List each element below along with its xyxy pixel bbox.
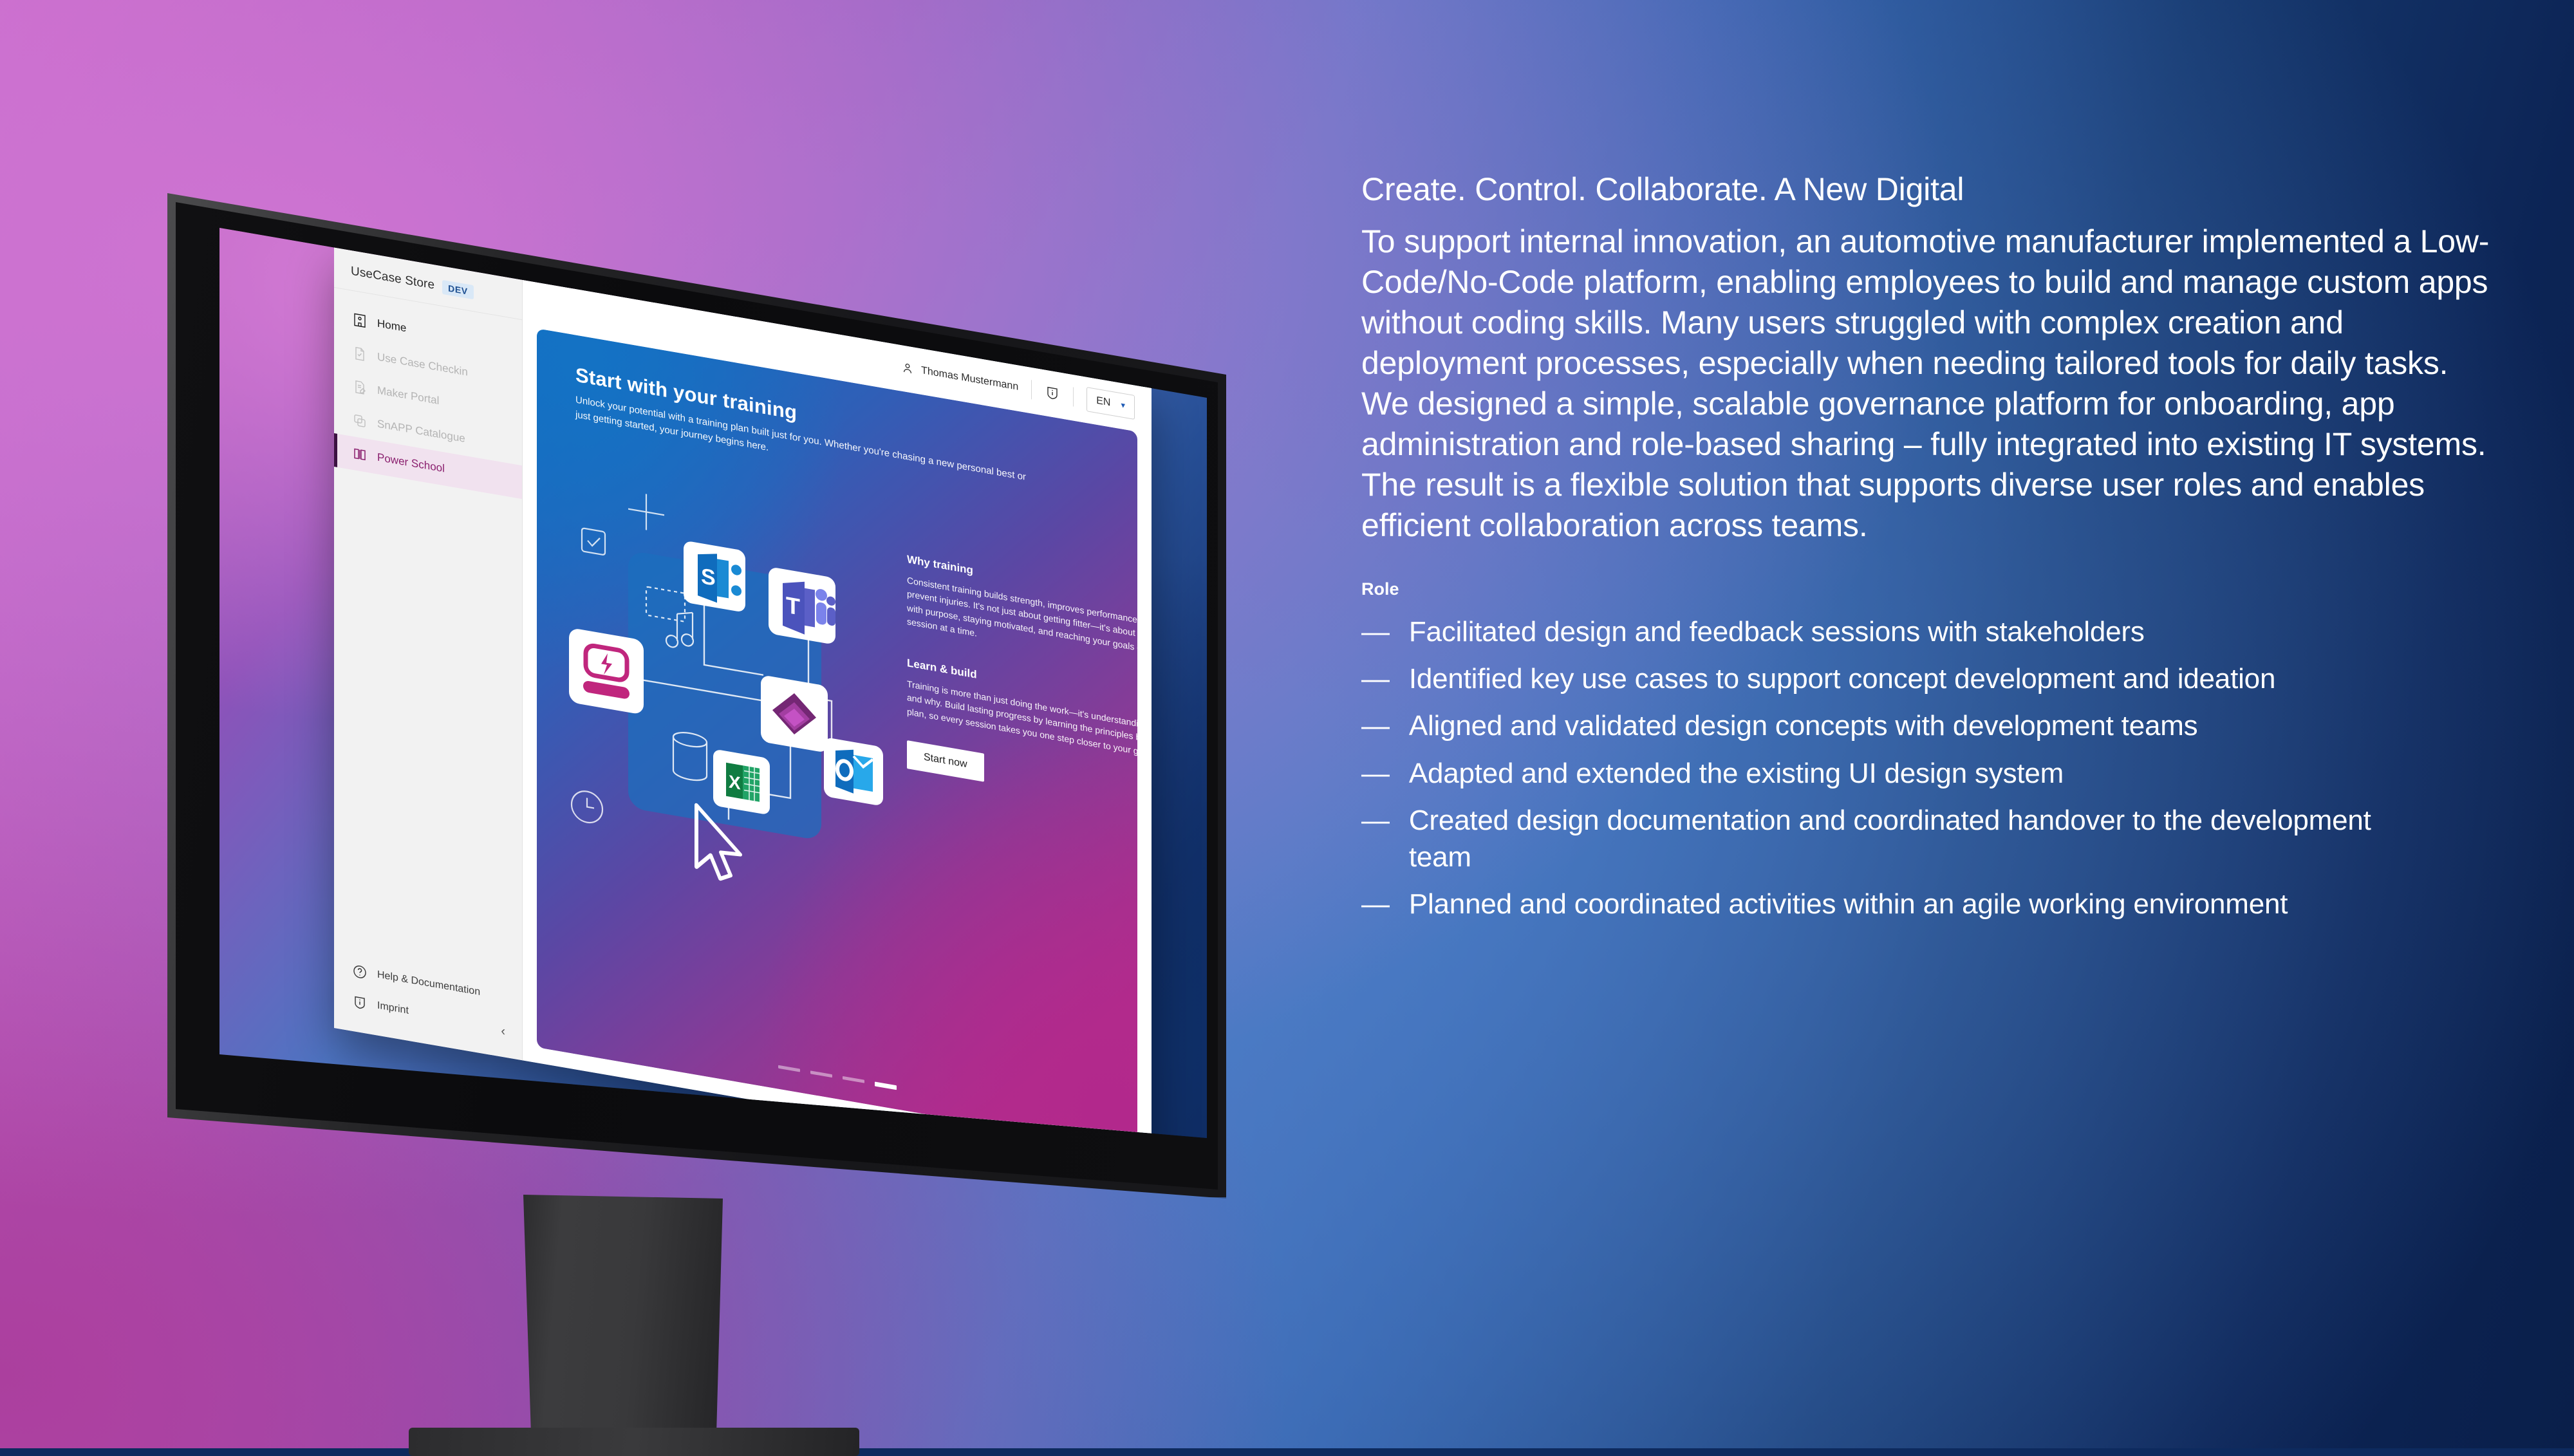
dash-bullet: —	[1361, 755, 1390, 792]
svg-text:X: X	[729, 771, 741, 794]
language-value: EN	[1096, 395, 1110, 409]
sidebar-item-label: Imprint	[377, 1000, 409, 1017]
apps-stack-icon	[352, 412, 368, 430]
role-list-item: — Identified key use cases to support co…	[1361, 660, 2494, 697]
carousel-indicators	[778, 1065, 897, 1090]
description-paragraph: To support internal innovation, an autom…	[1361, 221, 2494, 546]
carousel-dot[interactable]	[810, 1070, 832, 1078]
dash-bullet: —	[1361, 886, 1390, 922]
person-icon	[901, 361, 914, 376]
clock-icon	[572, 789, 602, 825]
sharepoint-icon: S	[684, 540, 745, 613]
monitor-screen: UseCase Store DEV Home	[164, 193, 1239, 1197]
role-item-text: Aligned and validated design concepts wi…	[1409, 707, 2198, 744]
environment-badge: DEV	[442, 280, 474, 299]
home-icon	[352, 312, 368, 330]
start-now-button[interactable]: Start now	[907, 740, 984, 782]
monitor-stand-base	[409, 1428, 859, 1456]
info-shield-icon	[352, 994, 368, 1012]
svg-text:T: T	[786, 592, 800, 620]
brand-name: UseCase Store	[351, 264, 434, 292]
plus-icon	[628, 491, 664, 534]
sidebar-item-label: Use Case Checkin	[377, 351, 468, 379]
hero-card: Start with your training Unlock your pot…	[537, 328, 1137, 1150]
sidebar-item-label: SnAPP Catalogue	[377, 418, 465, 446]
carousel-dot[interactable]	[843, 1076, 864, 1083]
language-select[interactable]: EN ▾	[1086, 387, 1135, 420]
divider	[1073, 387, 1074, 406]
case-study-copy: Create. Control. Collaborate. A New Digi…	[1361, 171, 2494, 933]
hero-illustration: S T	[564, 462, 899, 918]
app-window: UseCase Store DEV Home	[334, 246, 1152, 1168]
headline: Create. Control. Collaborate. A New Digi…	[1361, 171, 2494, 209]
dash-bullet: —	[1361, 802, 1390, 875]
sidebar-item-label: Maker Portal	[377, 384, 439, 408]
outlook-icon	[824, 737, 883, 807]
role-heading: Role	[1361, 579, 2494, 599]
chevron-down-icon: ▾	[1121, 400, 1125, 411]
sidebar-nav: Home Use Case Checkin Ma	[334, 288, 522, 499]
role-item-text: Identified key use cases to support conc…	[1409, 660, 2275, 697]
role-item-text: Facilitated design and feedback sessions…	[1409, 613, 2145, 650]
role-item-text: Adapted and extended the existing UI des…	[1409, 755, 2064, 792]
role-list-item: — Adapted and extended the existing UI d…	[1361, 755, 2494, 792]
dash-bullet: —	[1361, 707, 1390, 744]
sidebar: UseCase Store DEV Home	[334, 246, 523, 1060]
monitor-mockup: UseCase Store DEV Home	[164, 193, 1239, 1223]
checklist-icon	[352, 345, 368, 363]
role-item-text: Planned and coordinated activities withi…	[1409, 886, 2288, 922]
dash-bullet: —	[1361, 660, 1390, 697]
user-chip[interactable]: Thomas Mustermann	[901, 361, 1018, 394]
book-open-icon	[352, 445, 368, 463]
hero-block-why-training: Why training Consistent training builds …	[907, 553, 1137, 676]
user-name: Thomas Mustermann	[921, 365, 1018, 393]
main-content: Thomas Mustermann EN ▾ Start w	[523, 278, 1152, 1168]
role-list: — Facilitated design and feedback sessio…	[1361, 613, 2494, 922]
sidebar-item-label: Power School	[377, 451, 445, 476]
carousel-dot[interactable]	[778, 1065, 800, 1072]
power-apps-icon	[761, 675, 828, 753]
role-item-text: Created design documentation and coordin…	[1409, 802, 2400, 875]
info-shield-icon[interactable]	[1045, 384, 1060, 402]
role-list-item: — Facilitated design and feedback sessio…	[1361, 613, 2494, 650]
sidebar-item-label: Home	[377, 317, 406, 335]
edit-document-icon	[352, 378, 368, 397]
role-list-item: — Created design documentation and coord…	[1361, 802, 2494, 875]
carousel-dot-active[interactable]	[875, 1081, 897, 1090]
divider	[1031, 380, 1032, 399]
chevron-left-icon[interactable]: ‹	[501, 1025, 505, 1038]
role-list-item: — Planned and coordinated activities wit…	[1361, 886, 2494, 922]
role-list-item: — Aligned and validated design concepts …	[1361, 707, 2494, 744]
question-circle-icon	[352, 963, 368, 981]
dash-bullet: —	[1361, 613, 1390, 650]
teams-icon: T	[769, 566, 835, 645]
sidebar-spacer	[334, 467, 522, 984]
power-automate-icon	[569, 628, 644, 715]
svg-text:S: S	[701, 564, 716, 591]
checkbox-icon	[582, 528, 605, 555]
excel-icon: X	[713, 749, 770, 815]
monitor-stand-neck	[517, 1195, 729, 1434]
hero-text-blocks: Why training Consistent training builds …	[907, 553, 1137, 816]
